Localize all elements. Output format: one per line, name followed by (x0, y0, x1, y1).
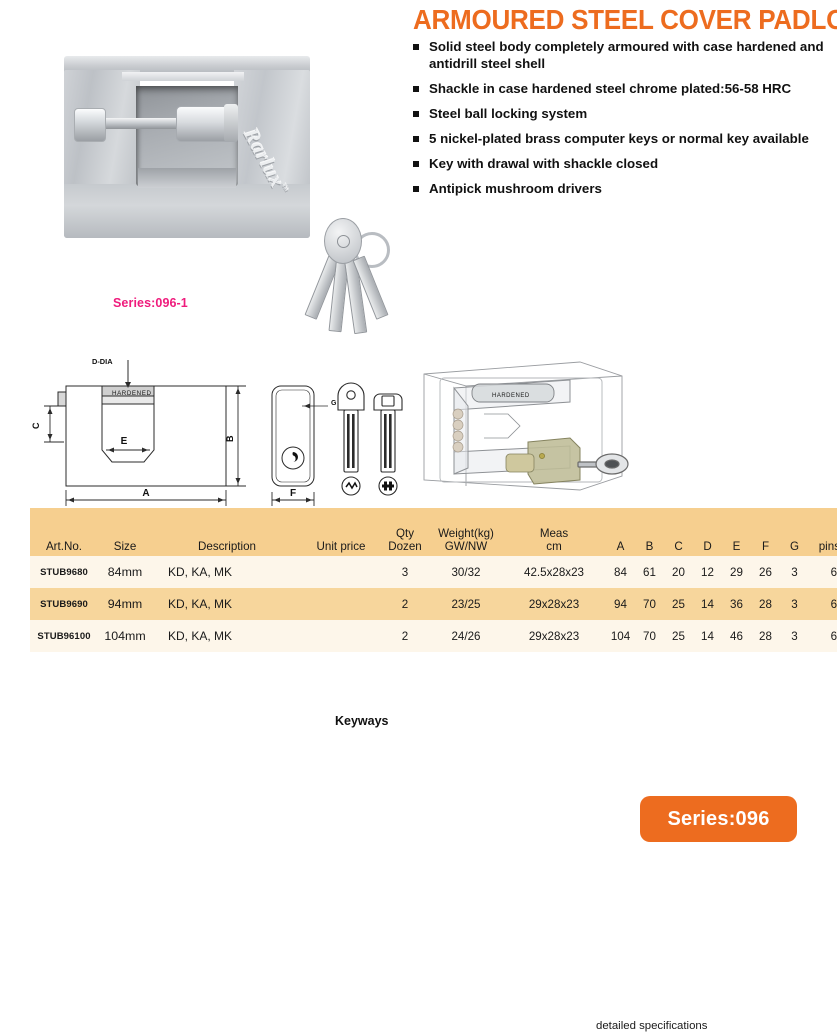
feature-item: Antipick mushroom drivers (413, 180, 833, 197)
dim-f-label: F (290, 488, 296, 499)
cell-e: 29 (722, 556, 751, 588)
col-header-qty: Qty Dozen (380, 508, 430, 556)
cell-description: KD, KA, MK (152, 588, 302, 620)
cell-pins: 6x2 (809, 588, 837, 620)
cutaway-illustration: HARDENED (410, 356, 640, 506)
cell-pins: 6x2 (809, 556, 837, 588)
d-dia-label: D-DIA (92, 358, 113, 366)
table-row: STUB96100 104mm KD, KA, MK 2 24/26 29x28… (30, 620, 837, 652)
cell-weight: 30/32 (430, 556, 502, 588)
cell-c: 25 (664, 620, 693, 652)
cell-g: 3 (780, 556, 809, 588)
table-header-row: Art.No. Size Description Unit price Qty … (30, 508, 837, 556)
cell-description: KD, KA, MK (152, 556, 302, 588)
col-header-g: G (780, 508, 809, 556)
col-header-description: Description (152, 508, 302, 556)
keyway-profiles (328, 378, 418, 498)
cell-b: 70 (635, 620, 664, 652)
col-header-weight: Weight(kg) GW/NW (430, 508, 502, 556)
photo-series-label: Series:096-1 (113, 296, 188, 310)
cell-meas: 29x28x23 (502, 620, 606, 652)
cell-pins: 6x2 (809, 620, 837, 652)
cell-art-no: STUB9690 (30, 588, 98, 620)
cell-f: 26 (751, 556, 780, 588)
cell-weight: 24/26 (430, 620, 502, 652)
cell-g: 3 (780, 620, 809, 652)
cell-f: 28 (751, 588, 780, 620)
detailed-specifications-group-label: detailed specifications (596, 1020, 707, 1032)
col-header-qty-text: Qty (382, 527, 428, 540)
key-set (310, 216, 418, 348)
specification-table: Art.No. Size Description Unit price Qty … (30, 508, 837, 652)
padlock-top-bevel (122, 72, 244, 81)
feature-list: Solid steel body completely armoured wit… (413, 38, 833, 205)
cell-a: 84 (606, 556, 635, 588)
keyways-title: Keyways (335, 714, 389, 728)
col-header-meas-sub: cm (504, 540, 604, 553)
dim-c-label: C (31, 422, 41, 429)
table-row: STUB9680 84mm KD, KA, MK 3 30/32 42.5x28… (30, 556, 837, 588)
dim-e-label: E (121, 436, 128, 447)
product-photo: Rarlux™ Series:096-1 (18, 38, 408, 338)
table-row: STUB9690 94mm KD, KA, MK 2 23/25 29x28x2… (30, 588, 837, 620)
cell-c: 20 (664, 556, 693, 588)
cell-c: 25 (664, 588, 693, 620)
cell-f: 28 (751, 620, 780, 652)
feature-item: Solid steel body completely armoured wit… (413, 38, 833, 72)
diagram-band: HARDENED D-DIA C B (0, 348, 837, 508)
dim-b-label: B (225, 435, 235, 442)
cell-art-no: STUB96100 (30, 620, 98, 652)
shackle-head (224, 104, 238, 142)
cell-description: KD, KA, MK (152, 620, 302, 652)
col-header-qty-sub: Dozen (382, 540, 428, 553)
page-title: ARMOURED STEEL COVER PADLOCK (413, 5, 804, 35)
dim-a-label: A (142, 488, 149, 499)
feature-item: Shackle in case hardened steel chrome pl… (413, 80, 833, 97)
hero-section: Rarlux™ Series:096-1 ARMOURED STEEL COVE… (0, 0, 837, 345)
cell-unit-price (302, 588, 380, 620)
hardened-label-front: HARDENED (112, 390, 152, 397)
cell-meas: 42.5x28x23 (502, 556, 606, 588)
table-body: STUB9680 84mm KD, KA, MK 3 30/32 42.5x28… (30, 556, 837, 652)
table-header: Art.No. Size Description Unit price Qty … (30, 508, 837, 556)
cell-d: 14 (693, 588, 722, 620)
cell-qty: 2 (380, 620, 430, 652)
col-header-unit-price-text: Unit price (304, 540, 378, 553)
col-header-d: D (693, 508, 722, 556)
col-header-b: B (635, 508, 664, 556)
key-head (324, 218, 362, 264)
col-header-unit-price: Unit price (302, 508, 380, 556)
cell-a: 94 (606, 588, 635, 620)
col-header-e: E (722, 508, 751, 556)
cell-e: 36 (722, 588, 751, 620)
catalog-page: Rarlux™ Series:096-1 ARMOURED STEEL COVE… (0, 0, 837, 641)
cell-size: 94mm (98, 588, 152, 620)
cell-art-no: STUB9680 (30, 556, 98, 588)
cell-qty: 2 (380, 588, 430, 620)
col-header-c: C (664, 508, 693, 556)
cell-qty: 3 (380, 556, 430, 588)
series-badge: Series:096 (640, 796, 797, 842)
cell-unit-price (302, 556, 380, 588)
col-header-pins: pins No. (809, 508, 837, 556)
feature-item: Key with drawal with shackle closed (413, 155, 833, 172)
cell-meas: 29x28x23 (502, 588, 606, 620)
cell-size: 104mm (98, 620, 152, 652)
cutaway-hardened-label: HARDENED (492, 393, 530, 399)
cell-unit-price (302, 620, 380, 652)
col-header-art-no: Art.No. (30, 508, 98, 556)
padlock-body: Rarlux™ (64, 56, 310, 238)
feature-item: Steel ball locking system (413, 105, 833, 122)
col-header-f: F (751, 508, 780, 556)
cell-b: 61 (635, 556, 664, 588)
col-header-meas: Meas cm (502, 508, 606, 556)
padlock-opening-floor (138, 168, 236, 188)
col-header-size: Size (98, 508, 152, 556)
specification-table-wrap: Art.No. Size Description Unit price Qty … (30, 508, 818, 652)
cell-weight: 23/25 (430, 588, 502, 620)
cell-size: 84mm (98, 556, 152, 588)
feature-item: 5 nickel-plated brass computer keys or n… (413, 130, 833, 147)
col-header-a: A (606, 508, 635, 556)
cell-g: 3 (780, 588, 809, 620)
series-badge-label: Series:096 (667, 808, 769, 831)
cell-b: 70 (635, 588, 664, 620)
shackle-end-cap (74, 108, 106, 142)
col-header-weight-text: Weight(kg) (432, 527, 500, 540)
cell-e: 46 (722, 620, 751, 652)
col-header-meas-text: Meas (504, 527, 604, 540)
cell-d: 14 (693, 620, 722, 652)
cell-d: 12 (693, 556, 722, 588)
cell-a: 104 (606, 620, 635, 652)
col-header-weight-sub: GW/NW (432, 540, 500, 553)
